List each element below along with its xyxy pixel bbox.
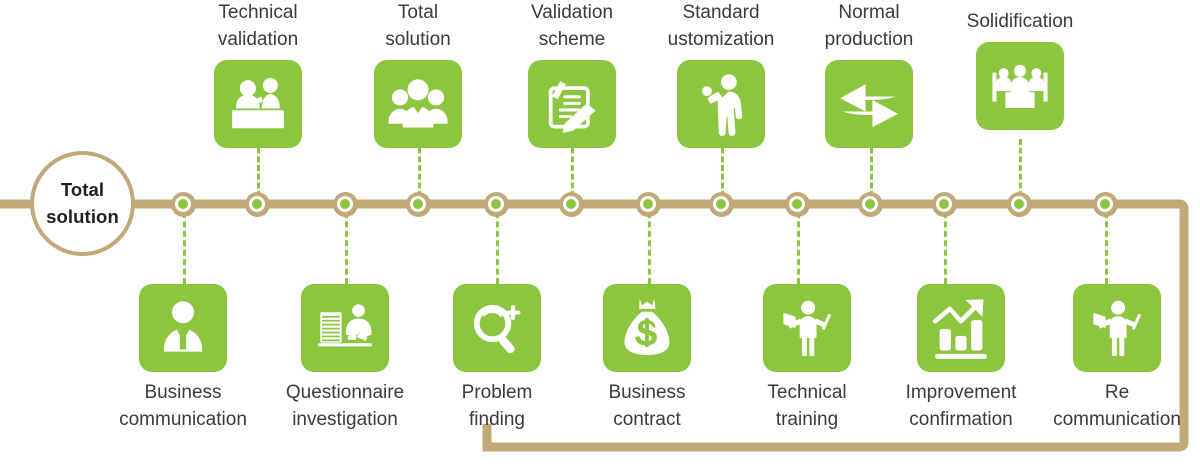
connector-stem-business-communication (183, 212, 186, 284)
node-solidification[interactable]: Solidification (976, 9, 1064, 130)
caption-line: Business (119, 380, 247, 407)
node-caption: Business communication (119, 380, 247, 434)
node-caption: Business contract (608, 380, 685, 434)
connector-stem-technical-training (797, 212, 800, 284)
people-group-icon[interactable] (374, 60, 462, 148)
caption-line: Standard (668, 0, 775, 27)
caption-line: confirmation (906, 407, 1017, 434)
node-business-communication[interactable]: Business communication (139, 284, 227, 434)
start-node: Total solution (30, 151, 135, 256)
node-caption: Questionnaire investigation (286, 380, 404, 434)
teacher-pointer-icon[interactable] (763, 284, 851, 372)
caption-line: Questionnaire (286, 380, 404, 407)
node-total-solution[interactable]: Total solution (374, 0, 462, 148)
caption-line: production (825, 27, 914, 54)
start-node-line-2: solution (46, 204, 119, 230)
milestone-dot[interactable] (245, 192, 270, 217)
caption-line: solution (385, 27, 451, 54)
caption-line: communication (1053, 407, 1181, 434)
node-caption: Total solution (385, 0, 451, 54)
connector-stem-solidification (1019, 139, 1022, 197)
node-problem-finding[interactable]: Problem finding (453, 284, 541, 434)
caption-line: Validation (531, 0, 613, 27)
node-business-contract[interactable]: Business contract (603, 284, 691, 434)
caption-line: Technical (767, 380, 846, 407)
caption-line: investigation (286, 407, 404, 434)
node-standard-customization[interactable]: Standard ustomization (677, 0, 765, 148)
start-node-line-1: Total (61, 177, 104, 203)
money-bag-icon[interactable] (603, 284, 691, 372)
caption-line: Solidification (967, 9, 1074, 36)
caption-line: Normal (825, 0, 914, 27)
milestone-dot[interactable] (484, 192, 509, 217)
milestone-dot[interactable] (932, 192, 957, 217)
node-caption: Normal production (825, 0, 914, 54)
node-caption: Re communication (1053, 380, 1181, 434)
bar-chart-arrow-icon[interactable] (917, 284, 1005, 372)
node-caption: Standard ustomization (668, 0, 775, 54)
businessman-tie-icon[interactable] (139, 284, 227, 372)
milestone-dot[interactable] (636, 192, 661, 217)
node-technical-training[interactable]: Technical training (763, 284, 851, 434)
caption-line: Total (385, 0, 451, 27)
person-microphone-icon[interactable] (677, 60, 765, 148)
milestone-dot[interactable] (171, 192, 196, 217)
caption-line: finding (462, 407, 533, 434)
caption-line: Re (1053, 380, 1181, 407)
caption-line: validation (218, 27, 298, 54)
meeting-table-icon[interactable] (214, 60, 302, 148)
connector-stem-questionnaire-investigation (345, 212, 348, 284)
caption-line: ustomization (668, 27, 775, 54)
node-caption: Validation scheme (531, 0, 613, 54)
milestone-dot[interactable] (785, 192, 810, 217)
two-arrows-icon[interactable] (825, 60, 913, 148)
node-normal-production[interactable]: Normal production (825, 0, 913, 148)
milestone-dot[interactable] (333, 192, 358, 217)
node-validation-scheme[interactable]: Validation scheme (528, 0, 616, 148)
caption-line: Improvement (906, 380, 1017, 407)
milestone-dot[interactable] (1093, 192, 1118, 217)
document-pen-icon[interactable] (528, 60, 616, 148)
desk-form-icon[interactable] (301, 284, 389, 372)
node-technical-validation[interactable]: Technical validation (214, 0, 302, 148)
milestone-dot[interactable] (709, 192, 734, 217)
caption-line: Technical (218, 0, 298, 27)
conference-table-icon[interactable] (976, 42, 1064, 130)
milestone-dot[interactable] (406, 192, 431, 217)
connector-stem-re-communication (1105, 212, 1108, 284)
node-improvement-confirmation[interactable]: Improvement confirmation (917, 284, 1005, 434)
teacher-pointer-icon[interactable] (1073, 284, 1161, 372)
connector-stem-problem-finding (496, 212, 499, 284)
caption-line: Business (608, 380, 685, 407)
caption-line: contract (608, 407, 685, 434)
magnifier-plus-icon[interactable] (453, 284, 541, 372)
node-caption: Technical validation (218, 0, 298, 54)
node-caption: Solidification (967, 9, 1074, 36)
connector-stem-improvement-confirmation (944, 212, 947, 284)
connector-stem-business-contract (648, 212, 651, 284)
node-caption: Problem finding (462, 380, 533, 434)
milestone-dot[interactable] (1007, 192, 1032, 217)
node-caption: Improvement confirmation (906, 380, 1017, 434)
node-caption: Technical training (767, 380, 846, 434)
caption-line: Problem (462, 380, 533, 407)
milestone-dot[interactable] (559, 192, 584, 217)
caption-line: training (767, 407, 846, 434)
milestone-dot[interactable] (858, 192, 883, 217)
node-questionnaire-investigation[interactable]: Questionnaire investigation (301, 284, 389, 434)
process-timeline-diagram: Total solution Technical validation (0, 0, 1200, 467)
node-re-communication[interactable]: Re communication (1073, 284, 1161, 434)
caption-line: scheme (531, 27, 613, 54)
caption-line: communication (119, 407, 247, 434)
